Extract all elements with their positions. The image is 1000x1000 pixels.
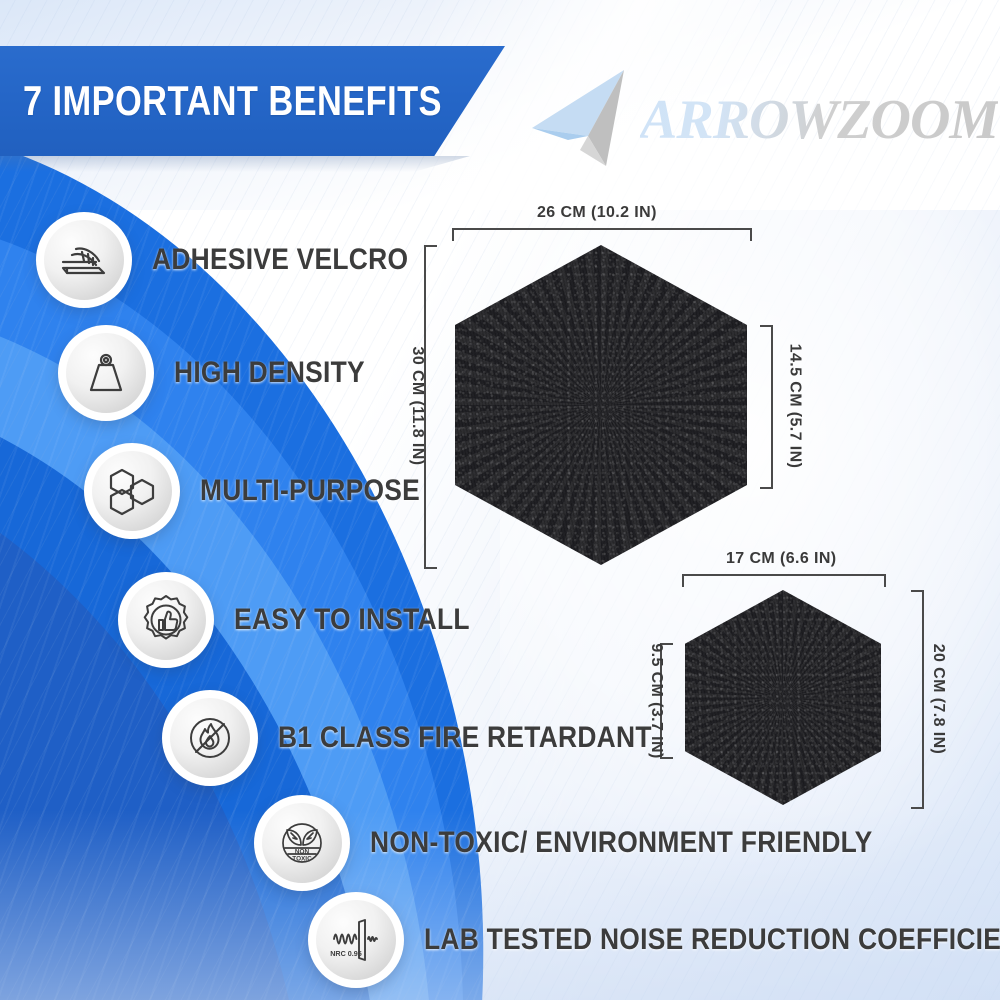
- badge-inner-disc: [170, 698, 250, 778]
- no-fire-icon: [184, 712, 236, 764]
- small-height-bracket: [911, 590, 924, 809]
- benefit-badge: NON TOXIC: [254, 795, 350, 891]
- badge-inner-disc: NON TOXIC: [262, 803, 342, 883]
- benefit-badge: [84, 443, 180, 539]
- large-width-label: 26 CM (10.2 IN): [537, 204, 657, 222]
- benefit-label: HIGH DENSITY: [174, 356, 365, 390]
- benefit-badge: [118, 572, 214, 668]
- infographic-page: 7 IMPORTANT BENEFITS ARROWZOOM: [0, 0, 1000, 1000]
- large-side-label: 14.5 CM (5.7 IN): [786, 334, 804, 479]
- small-hexagon-panel: [685, 590, 881, 805]
- brand-logo: ARROWZOOM: [528, 62, 968, 174]
- benefit-item-high-density[interactable]: HIGH DENSITY: [58, 325, 391, 421]
- benefit-item-adhesive-velcro[interactable]: ADHESIVE VELCRO: [36, 212, 443, 308]
- small-height-label: 20 CM (7.8 IN): [929, 634, 947, 764]
- badge-inner-disc: [44, 220, 124, 300]
- badge-inner-disc: [92, 451, 172, 531]
- non-toxic-line2: TOXIC: [292, 855, 312, 862]
- badge-inner-disc: NRC 0.95: [316, 900, 396, 980]
- large-hexagon-fiber-texture: [455, 245, 747, 565]
- benefit-item-fire-retardant[interactable]: B1 CLASS FIRE RETARDANT: [162, 690, 703, 786]
- small-side-label: 9.5 CM (3.7 IN): [647, 636, 665, 766]
- benefit-badge: [58, 325, 154, 421]
- large-width-bracket: [452, 228, 752, 241]
- title-banner: 7 IMPORTANT BENEFITS: [0, 46, 505, 156]
- page-title: 7 IMPORTANT BENEFITS: [0, 77, 442, 125]
- non-toxic-line1: NON: [295, 848, 310, 855]
- benefit-label: B1 CLASS FIRE RETARDANT: [278, 721, 652, 755]
- large-hexagon-panel: [455, 245, 747, 565]
- velcro-strip-icon: [58, 234, 110, 286]
- small-width-bracket: [682, 574, 886, 587]
- nrc-soundwave-icon: NRC 0.95: [328, 915, 384, 965]
- benefit-badge: [36, 212, 132, 308]
- benefit-label: EASY TO INSTALL: [234, 603, 470, 637]
- badge-inner-disc: [126, 580, 206, 660]
- badge-inner-disc: [66, 333, 146, 413]
- weight-icon: [81, 348, 131, 398]
- large-height-label: 30 CM (11.8 IN): [408, 341, 426, 471]
- benefit-label: MULTI-PURPOSE: [200, 474, 420, 508]
- benefit-item-easy-to-install[interactable]: EASY TO INSTALL: [118, 572, 502, 668]
- nrc-value-label: NRC 0.95: [330, 949, 362, 958]
- page-header: 7 IMPORTANT BENEFITS ARROWZOOM: [0, 0, 1000, 200]
- small-width-label: 17 CM (6.6 IN): [726, 550, 837, 568]
- small-hexagon-fiber-texture: [685, 590, 881, 805]
- benefit-badge: [162, 690, 258, 786]
- benefit-label: LAB TESTED NOISE REDUCTION COEFFICIENT: [424, 923, 1000, 957]
- benefit-item-nrc[interactable]: NRC 0.95 LAB TESTED NOISE REDUCTION COEF…: [308, 892, 1000, 988]
- banner-shadow: [0, 156, 470, 172]
- gear-thumbs-up-icon: [139, 593, 193, 647]
- benefit-item-multi-purpose[interactable]: MULTI-PURPOSE: [84, 443, 450, 539]
- benefit-item-non-toxic[interactable]: NON TOXIC NON-TOXIC/ ENVIRONMENT FRIENDL…: [254, 795, 941, 891]
- large-side-bracket: [760, 325, 773, 489]
- non-toxic-leaf-icon: NON TOXIC: [275, 817, 329, 869]
- benefit-label: ADHESIVE VELCRO: [152, 243, 408, 277]
- brand-name: ARROWZOOM: [640, 88, 998, 152]
- benefit-badge: NRC 0.95: [308, 892, 404, 988]
- hexagons-icon: [106, 466, 158, 516]
- benefit-label: NON-TOXIC/ ENVIRONMENT FRIENDLY: [370, 826, 872, 860]
